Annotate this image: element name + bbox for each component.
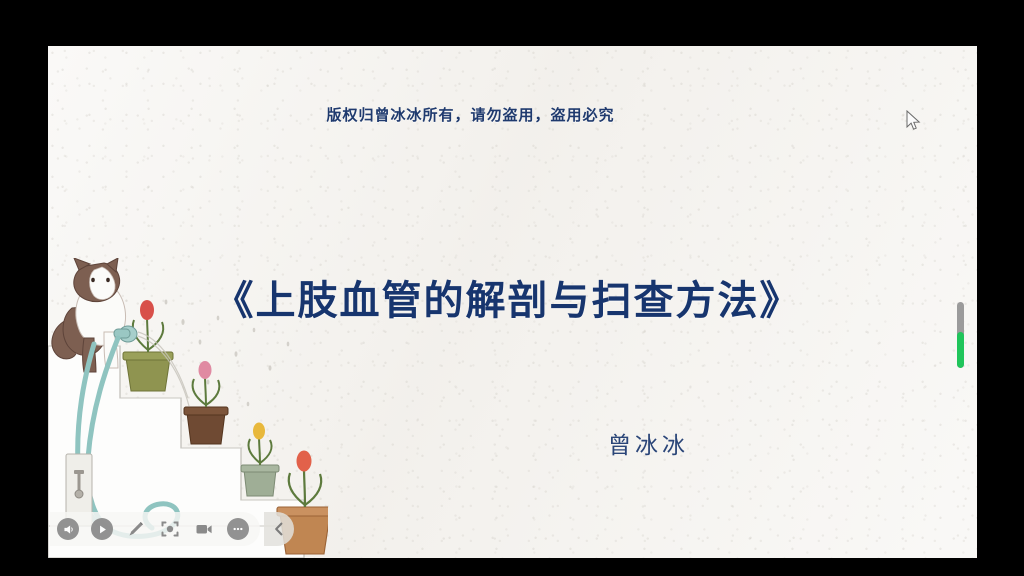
- play-icon: [91, 518, 113, 540]
- page-title-text: 《上肢血管的解剖与扫查方法》: [214, 268, 802, 326]
- screen-root: 版权归曾冰冰所有，请勿盗用，盗用必究 《上肢血管的解剖与扫查方法》 曾冰冰: [0, 0, 1024, 576]
- copyright-notice-text: 版权归曾冰冰所有，请勿盗用，盗用必究: [326, 104, 614, 125]
- video-slide-area[interactable]: 版权归曾冰冰所有，请勿盗用，盗用必究 《上肢血管的解剖与扫查方法》 曾冰冰: [48, 46, 977, 558]
- author-name: 曾冰冰: [608, 426, 689, 460]
- vertical-progress-fill: [957, 332, 964, 368]
- speaker-icon: [57, 518, 79, 540]
- copyright-notice: 版权归曾冰冰所有，请勿盗用，盗用必究: [48, 104, 977, 125]
- player-toolbar[interactable]: [50, 512, 294, 546]
- record-button[interactable]: [190, 515, 218, 543]
- play-button[interactable]: [88, 515, 116, 543]
- collapse-toolbar-button[interactable]: [264, 512, 294, 546]
- volume-button[interactable]: [54, 515, 82, 543]
- screenshot-button[interactable]: [156, 515, 184, 543]
- player-toolbar-pill: [50, 512, 260, 546]
- pencil-icon: [126, 519, 146, 539]
- annotate-button[interactable]: [122, 515, 150, 543]
- chevron-left-icon: [272, 521, 286, 537]
- more-button[interactable]: [224, 515, 252, 543]
- vertical-progress-indicator[interactable]: [957, 302, 964, 368]
- video-cam-icon: [194, 519, 214, 539]
- page-title: 《上肢血管的解剖与扫查方法》: [48, 268, 977, 326]
- capture-icon: [160, 519, 180, 539]
- ellipsis-icon: [227, 518, 249, 540]
